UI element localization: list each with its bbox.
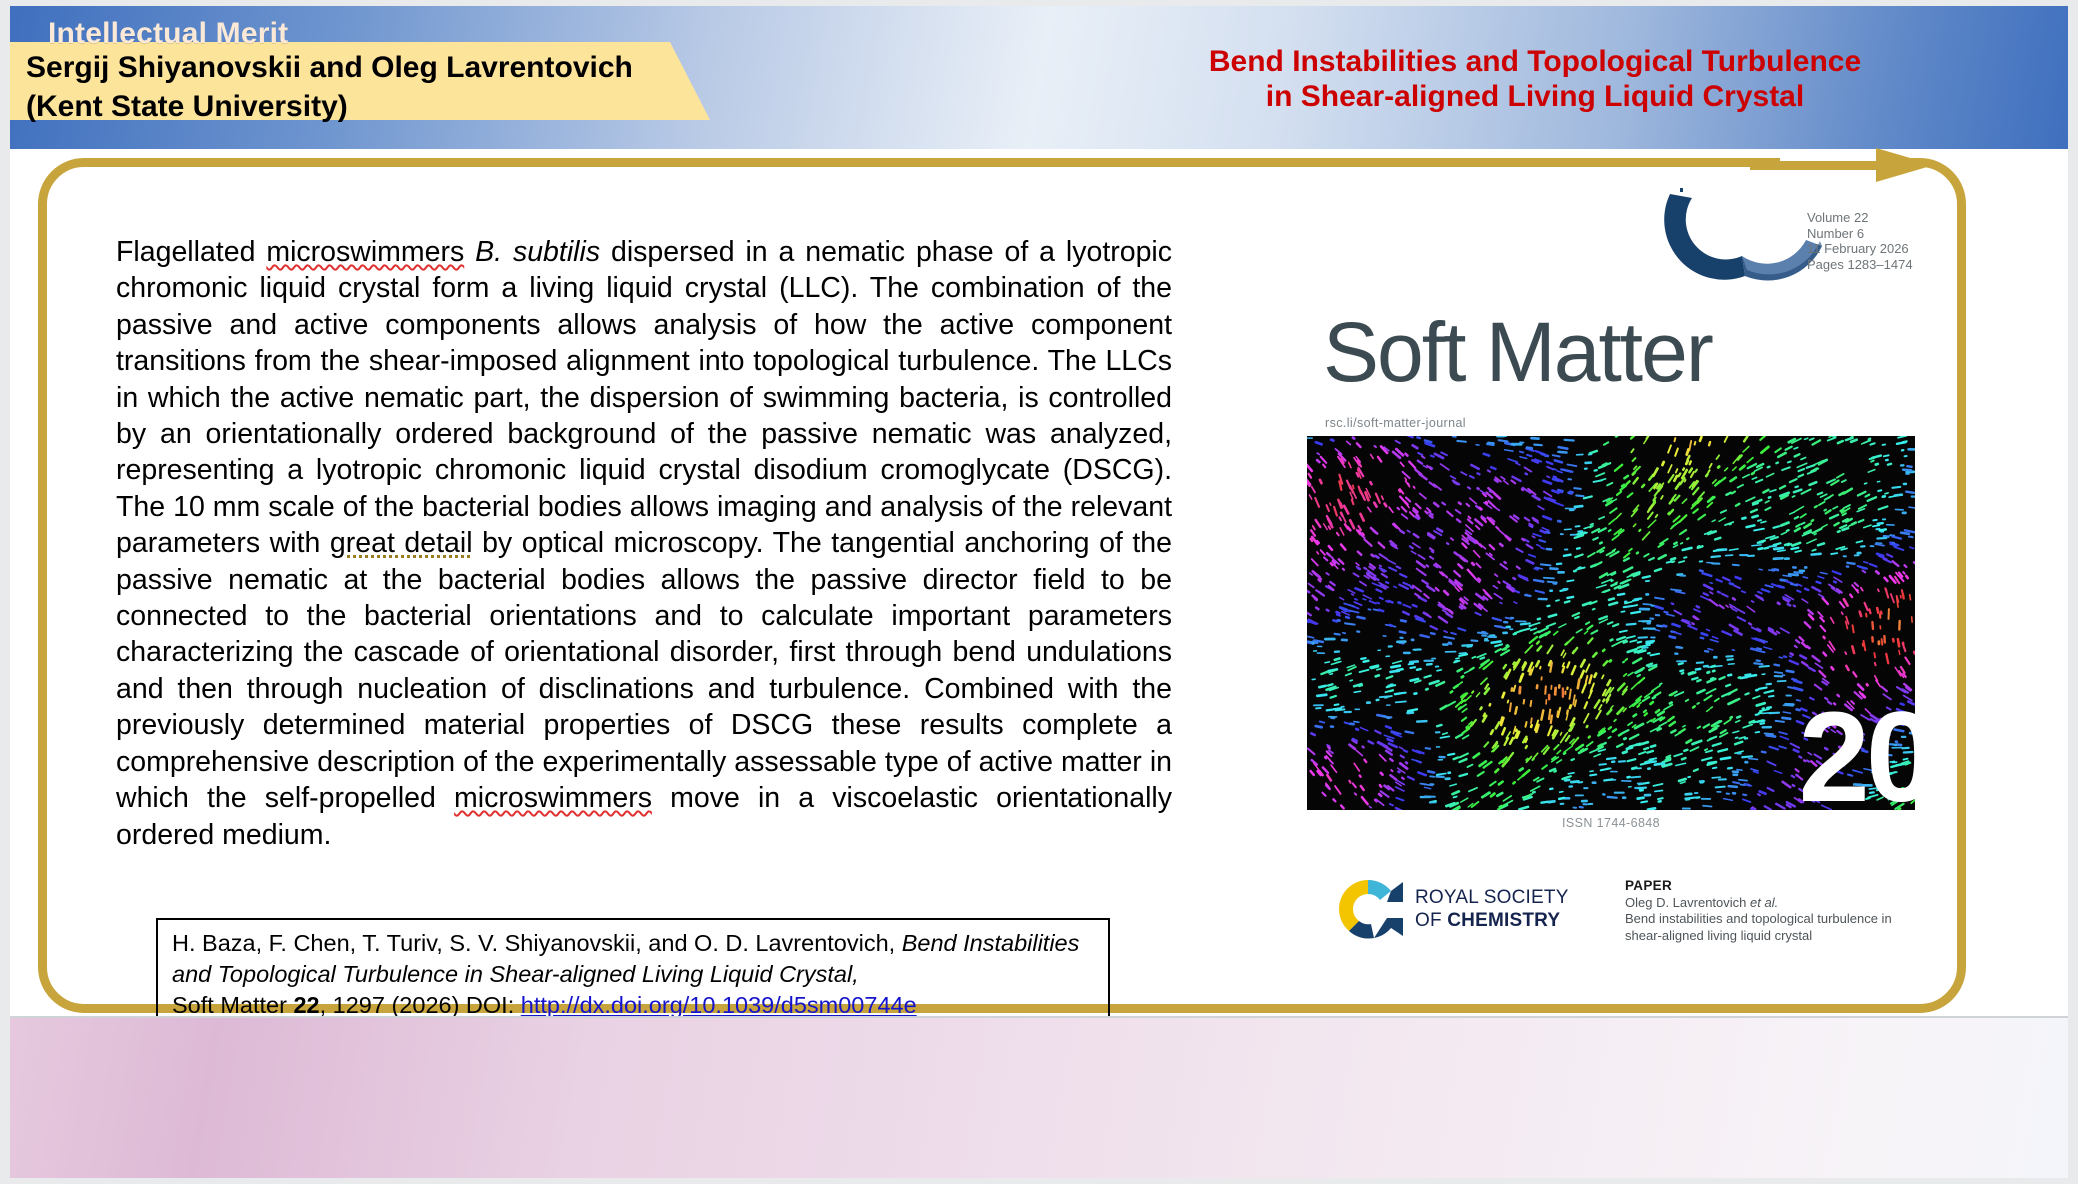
citation-pages-year: , 1297 (2026) DOI: (320, 992, 521, 1018)
poster-slide: Intellectual Merit Sergij Shiyanovskii a… (10, 6, 2068, 1178)
abstract-seg-2: dispersed in a nematic phase of a lyotro… (116, 236, 1172, 559)
cover-paper-title-line1: Bend instabilities and topological turbu… (1625, 911, 1892, 926)
cover-issn: ISSN 1744-6848 (1295, 816, 1927, 830)
citation-journal: Soft Matter (172, 992, 293, 1018)
abstract-seg-3: by optical microscopy. The tangential an… (116, 527, 1172, 814)
cover-volume-info: Volume 22 Number 6 11 February 2026 Page… (1807, 210, 1913, 272)
rsc-swoosh-icon (1650, 184, 1830, 294)
frame-arrow-bar (1750, 161, 1890, 170)
doi-link[interactable]: http://dx.doi.org/10.1039/d5sm00744e (521, 992, 917, 1018)
royal-society-text: ROYAL SOCIETY OF CHEMISTRY (1415, 886, 1569, 932)
abstract-spellcheck-microswimmers-1: microswimmers (266, 236, 464, 268)
poster-title: Bend Instabilities and Topological Turbu… (1040, 44, 2030, 115)
cover-website-url: rsc.li/soft-matter-journal (1325, 416, 1466, 430)
abstract-species-name: B. subtilis (475, 236, 600, 268)
abstract-text: Flagellated microswimmers B. subtilis di… (116, 234, 1172, 853)
poster-header: Intellectual Merit Sergij Shiyanovskii a… (10, 6, 2068, 149)
rsc-line2-chemistry: CHEMISTRY (1447, 910, 1560, 931)
intellectual-merit-label: Intellectual Merit (48, 17, 288, 51)
anniversary-number: 20 (1799, 694, 1915, 810)
poster-title-line2: in Shear-aligned Living Liquid Crystal (1040, 79, 2030, 114)
poster-footer: NSF DMREF MATERIALS FOR OUR FUTURE Desig… (10, 1018, 2068, 1178)
citation-volume: 22 (293, 992, 319, 1018)
bacteria-micrograph: 20 (1307, 436, 1915, 810)
cover-paper-block: PAPER Oleg D. Lavrentovich et al. Bend i… (1625, 878, 1892, 944)
rsc-line1: ROYAL SOCIETY (1415, 887, 1569, 908)
citation-box: H. Baza, F. Chen, T. Turiv, S. V. Shiyan… (156, 918, 1110, 1026)
cover-paper-etal: et al. (1750, 895, 1778, 910)
cover-journal-title: Soft Matter (1323, 304, 1712, 401)
citation-authors: H. Baza, F. Chen, T. Turiv, S. V. Shiyan… (172, 930, 902, 956)
cover-paper-label: PAPER (1625, 878, 1672, 893)
frame-arrow-head-icon (1876, 148, 1934, 182)
cover-paper-author: Oleg D. Lavrentovich (1625, 895, 1750, 910)
poster-title-line1: Bend Instabilities and Topological Turbu… (1209, 45, 1861, 78)
royal-society-of-chemistry-logo-icon (1329, 874, 1407, 944)
abstract-spellcheck-microswimmers-2: microswimmers (454, 782, 652, 814)
cover-paper-title-line2: shear-aligned living liquid crystal (1625, 928, 1812, 943)
author-affiliation: (Kent State University) (26, 90, 348, 124)
abstract-seg-space (464, 236, 475, 268)
abstract-seg-1: Flagellated (116, 236, 266, 268)
author-names: Sergij Shiyanovskii and Oleg Lavrentovic… (26, 51, 633, 85)
journal-cover-image: Volume 22 Number 6 11 February 2026 Page… (1295, 184, 1927, 984)
abstract-grammar-great-detail: great detail (330, 527, 473, 559)
rsc-line2-of: OF (1415, 910, 1447, 931)
